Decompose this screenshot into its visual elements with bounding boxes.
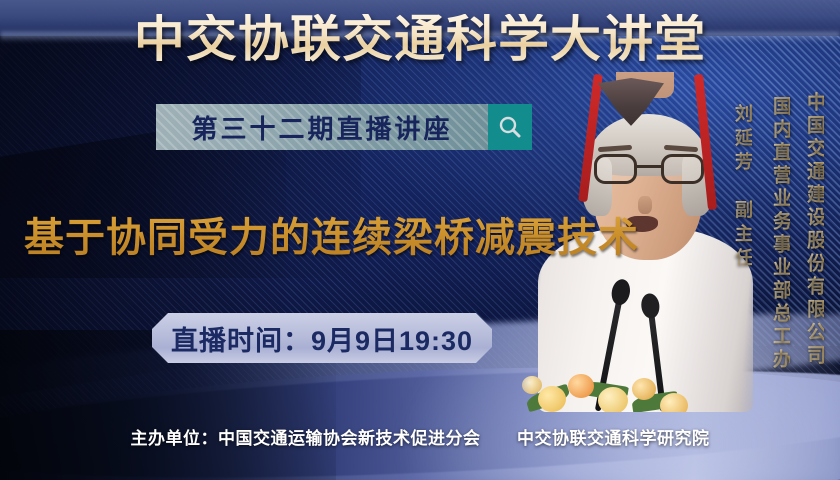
search-icon[interactable] bbox=[488, 104, 532, 150]
organizer-secondary: 中交协联交通科学研究院 bbox=[517, 429, 710, 448]
glasses-lens-right bbox=[661, 154, 704, 184]
glasses-bridge bbox=[637, 165, 661, 168]
speaker-nose bbox=[638, 196, 652, 214]
glasses-lens-left bbox=[594, 154, 637, 184]
schedule-badge: 直播时间：9月9日19:30 bbox=[152, 313, 492, 363]
organizer-primary: 主办单位：中国交通运输协会新技术促进分会 bbox=[131, 429, 481, 448]
schedule-label: 直播时间：9月9日19:30 bbox=[171, 319, 473, 358]
episode-label-container: 第三十二期直播讲座 bbox=[156, 104, 488, 150]
webinar-poster: 中交协联交通科学大讲堂 第三十二期直播讲座 基于协同受力的连续梁桥减震技术 直播… bbox=[0, 0, 840, 480]
speaker-glasses bbox=[594, 154, 704, 184]
episode-label: 第三十二期直播讲座 bbox=[191, 109, 452, 146]
organizer-footer: 主办单位：中国交通运输协会新技术促进分会 中交协联交通科学研究院 bbox=[0, 424, 840, 449]
speaker-name-title: 刘延芳 副主任 bbox=[734, 104, 752, 272]
speaker-department: 国内直营业务事业部总工办 bbox=[771, 96, 790, 372]
episode-banner[interactable]: 第三十二期直播讲座 bbox=[156, 104, 532, 150]
topic-title: 基于协同受力的连续梁桥减震技术 bbox=[24, 205, 639, 263]
speaker-company: 中国交通建设股份有限公司 bbox=[805, 92, 824, 368]
page-title: 中交协联交通科学大讲堂 bbox=[0, 14, 840, 64]
